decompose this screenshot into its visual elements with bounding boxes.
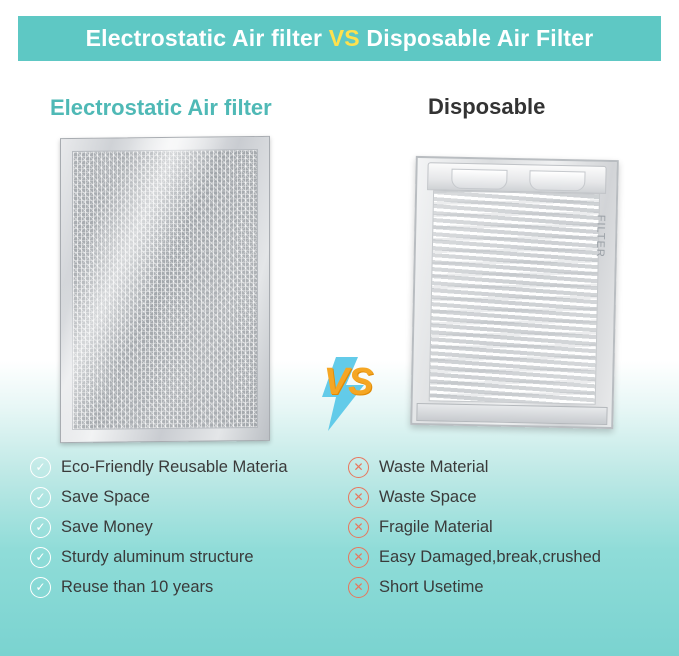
header-title-part1: Electrostatic Air filter [86, 25, 329, 51]
electrostatic-feature-list: ✓ Eco-Friendly Reusable Materia ✓ Save S… [30, 452, 350, 602]
list-item: ✓ Eco-Friendly Reusable Materia [30, 452, 350, 482]
list-item-label: Save Money [61, 518, 153, 537]
list-item-label: Reuse than 10 years [61, 578, 213, 597]
list-item: ✕ Short Usetime [348, 572, 668, 602]
electrostatic-filter-highlight [61, 137, 269, 442]
list-item-label: Waste Material [379, 458, 488, 477]
cross-icon: ✕ [348, 517, 369, 538]
list-item-label: Sturdy aluminum structure [61, 548, 254, 567]
left-column-title: Electrostatic Air filter [50, 95, 272, 121]
right-column-title: Disposable [428, 94, 545, 120]
check-icon: ✓ [30, 457, 51, 478]
electrostatic-filter-frame [60, 136, 270, 443]
list-item-label: Easy Damaged,break,crushed [379, 548, 601, 567]
disposable-filter-image: FILTER [405, 150, 620, 430]
list-item-label: Fragile Material [379, 518, 493, 537]
check-icon: ✓ [30, 547, 51, 568]
list-item-label: Save Space [61, 488, 150, 507]
list-item: ✓ Save Space [30, 482, 350, 512]
disposable-filter-media [429, 190, 600, 404]
header-banner: Electrostatic Air filter VS Disposable A… [18, 16, 661, 61]
cross-icon: ✕ [348, 457, 369, 478]
disposable-filter-notch-right [529, 170, 585, 191]
disposable-filter-notch-left [451, 169, 507, 190]
cross-icon: ✕ [348, 547, 369, 568]
cross-icon: ✕ [348, 487, 369, 508]
list-item: ✓ Save Money [30, 512, 350, 542]
vs-badge: VS [306, 355, 384, 433]
check-icon: ✓ [30, 577, 51, 598]
feature-lists: ✓ Eco-Friendly Reusable Materia ✓ Save S… [0, 452, 679, 622]
list-item: ✕ Waste Space [348, 482, 668, 512]
disposable-feature-list: ✕ Waste Material ✕ Waste Space ✕ Fragile… [348, 452, 668, 602]
list-item-label: Waste Space [379, 488, 477, 507]
list-item-label: Eco-Friendly Reusable Materia [61, 458, 288, 477]
comparison-infographic: Electrostatic Air filter VS Disposable A… [0, 0, 679, 656]
vs-badge-label: VS [312, 361, 384, 404]
disposable-filter-body: FILTER [410, 156, 619, 429]
header-title-vs: VS [329, 25, 360, 51]
list-item-label: Short Usetime [379, 578, 484, 597]
cross-icon: ✕ [348, 577, 369, 598]
list-item: ✕ Fragile Material [348, 512, 668, 542]
list-item: ✕ Waste Material [348, 452, 668, 482]
check-icon: ✓ [30, 517, 51, 538]
electrostatic-filter-image [60, 137, 270, 442]
list-item: ✕ Easy Damaged,break,crushed [348, 542, 668, 572]
check-icon: ✓ [30, 487, 51, 508]
header-title-part2: Disposable Air Filter [360, 25, 594, 51]
list-item: ✓ Sturdy aluminum structure [30, 542, 350, 572]
header-title: Electrostatic Air filter VS Disposable A… [86, 25, 594, 52]
list-item: ✓ Reuse than 10 years [30, 572, 350, 602]
disposable-filter-side-text: FILTER [594, 215, 607, 258]
disposable-filter-bottom-lip [416, 403, 607, 425]
